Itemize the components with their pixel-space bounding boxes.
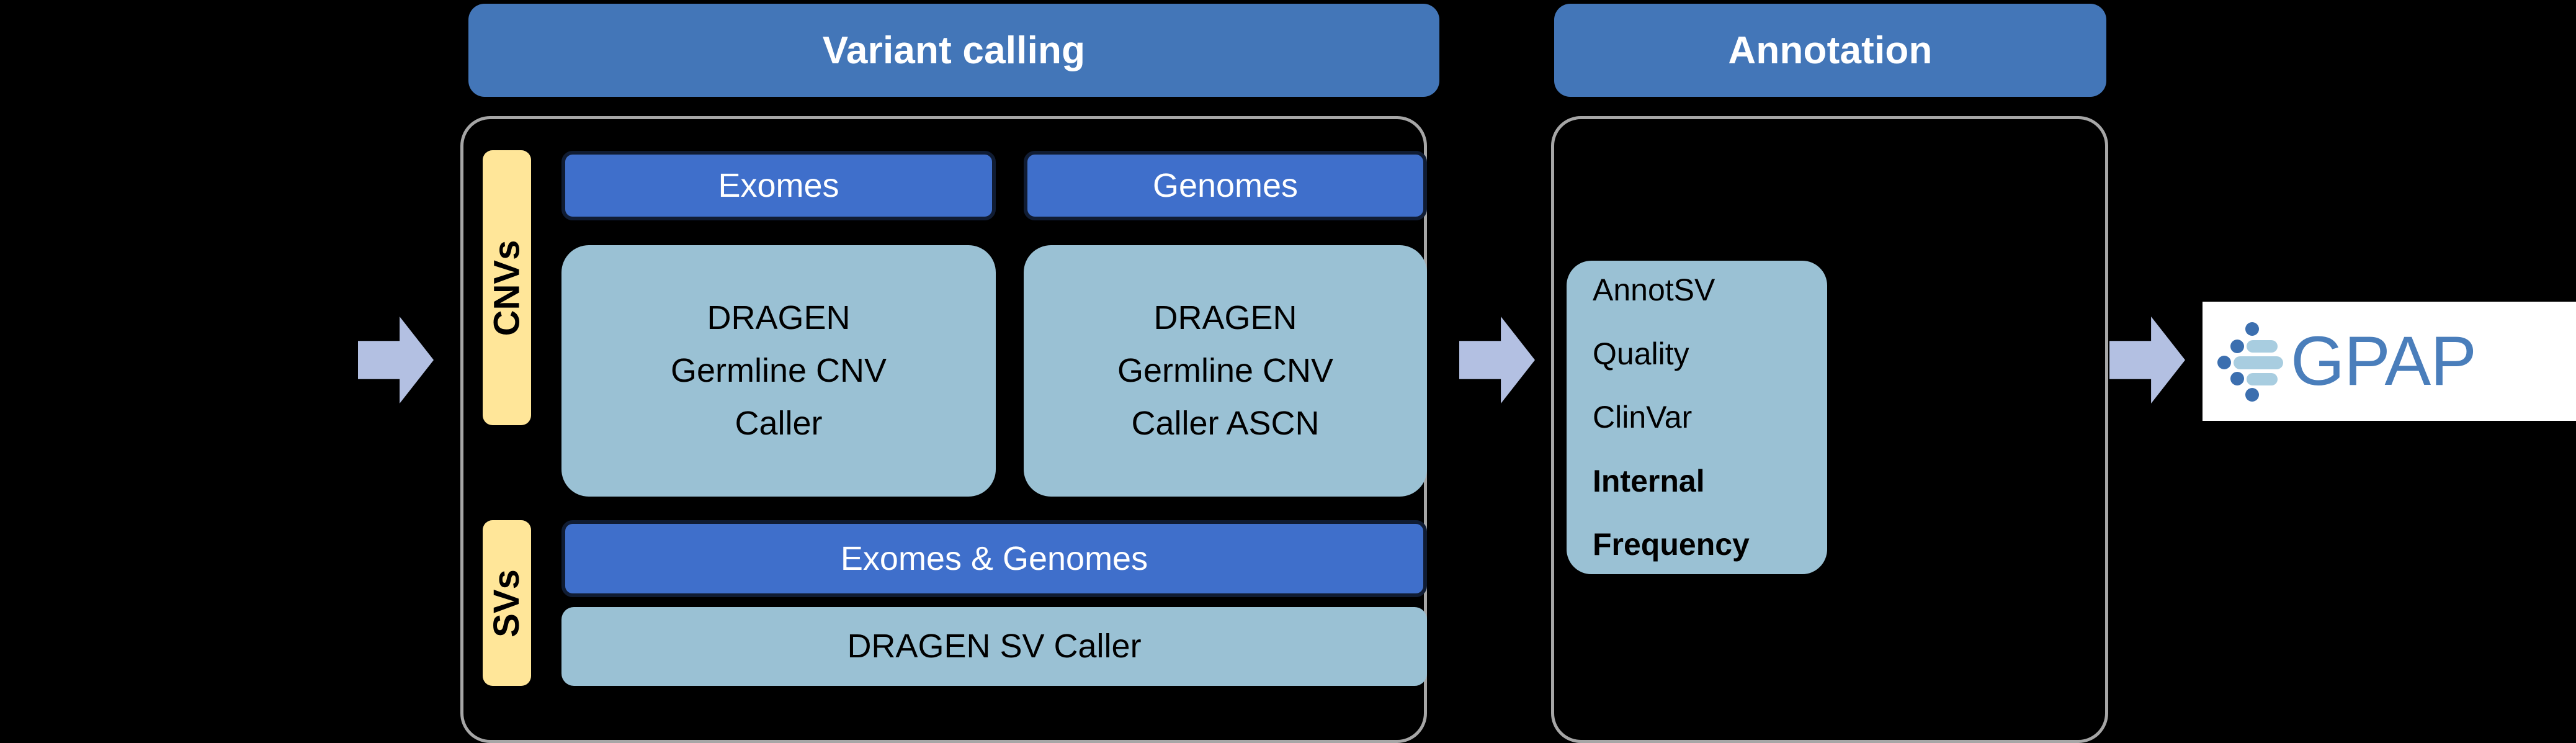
annotation-item: Internal Frequency	[1593, 449, 1827, 577]
category-tab-cnvs: CNVs	[483, 150, 531, 425]
diagram-canvas: Variant calling Annotation CNVs Exomes G…	[0, 0, 2576, 723]
gpap-logo-panel: GPAP	[2203, 302, 2576, 421]
tool-box-dragen-germline-cnv-caller-ascn: DRAGEN Germline CNV Caller ASCN	[1024, 245, 1427, 497]
section-header-annotation-label: Annotation	[1728, 29, 1932, 73]
annotation-item: ClinVar	[1593, 385, 1692, 449]
chip-cnvs-genomes: Genomes	[1024, 151, 1427, 220]
category-tab-svs-label: SVs	[489, 569, 525, 637]
annotation-item: Quality	[1593, 322, 1689, 386]
arrow-variant-calling-to-annotation	[1459, 317, 1535, 403]
tool-box-line: DRAGEN SV Caller	[847, 620, 1141, 673]
annotation-items-box: AnnotSV Quality ClinVar Internal Frequen…	[1567, 261, 1827, 574]
category-tab-svs: SVs	[483, 520, 531, 686]
section-header-variant-calling: Variant calling	[468, 4, 1439, 97]
tool-box-line: Caller	[735, 397, 822, 450]
tool-box-line: Germline CNV	[671, 344, 887, 397]
arrow-input-to-variant-calling	[358, 317, 434, 403]
chip-svs-exomes-and-genomes-label: Exomes & Genomes	[841, 539, 1148, 578]
section-header-variant-calling-label: Variant calling	[823, 29, 1085, 73]
chip-cnvs-exomes-label: Exomes	[718, 166, 839, 205]
gpap-wordmark: GPAP	[2291, 326, 2476, 396]
tool-box-line: Caller ASCN	[1131, 397, 1319, 450]
arrow-annotation-to-gpap	[2109, 317, 2185, 403]
tool-box-dragen-germline-cnv-caller: DRAGEN Germline CNV Caller	[561, 245, 996, 497]
annotation-item: AnnotSV	[1593, 258, 1715, 322]
tool-box-dragen-sv-caller: DRAGEN SV Caller	[561, 607, 1427, 686]
section-header-annotation: Annotation	[1554, 4, 2106, 97]
tool-box-line: DRAGEN	[707, 292, 850, 344]
category-tab-cnvs-label: CNVs	[489, 240, 525, 336]
chip-cnvs-genomes-label: Genomes	[1153, 166, 1298, 205]
chip-cnvs-exomes: Exomes	[561, 151, 996, 220]
gpap-dots-bars-icon	[2214, 321, 2287, 402]
chip-svs-exomes-and-genomes: Exomes & Genomes	[561, 520, 1427, 597]
tool-box-line: Germline CNV	[1117, 344, 1333, 397]
tool-box-line: DRAGEN	[1153, 292, 1297, 344]
